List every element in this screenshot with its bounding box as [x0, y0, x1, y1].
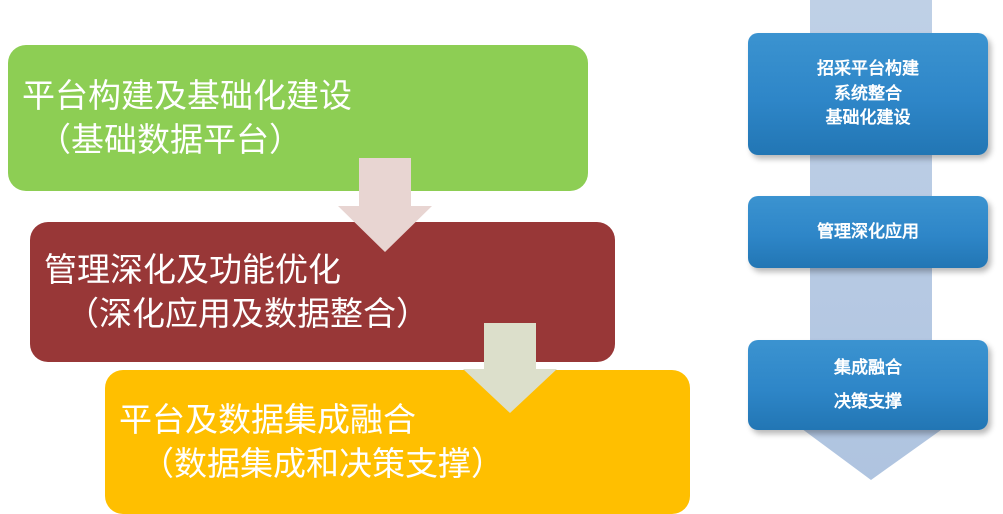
phase-box-platform-construction[interactable]: 平台构建及基础化建设 （基础数据平台） [8, 45, 588, 191]
phase-3-line-2: （数据集成和决策支撑） [119, 442, 690, 486]
connector-2-down-arrow-icon [463, 323, 557, 413]
milestone-2-line-1: 管理深化应用 [817, 220, 919, 245]
phase-3-line-1: 平台及数据集成融合 [119, 398, 690, 442]
milestone-1-line-1: 招采平台构建 [817, 57, 919, 82]
diagram-canvas: 平台构建及基础化建设 （基础数据平台） 管理深化及功能优化 （深化应用及数据整合… [0, 0, 1003, 514]
milestone-3-line-2: 决策支撑 [834, 385, 902, 419]
milestone-3-line-1: 集成融合 [834, 351, 902, 385]
milestone-box-management-application[interactable]: 管理深化应用 [748, 196, 988, 268]
milestone-1-line-3: 基础化建设 [826, 106, 911, 131]
phase-box-data-integration[interactable]: 平台及数据集成融合 （数据集成和决策支撑） [105, 370, 690, 514]
phase-1-line-1: 平台构建及基础化建设 [22, 74, 588, 118]
milestone-1-line-2: 系统整合 [834, 82, 902, 107]
milestone-box-integration-decision[interactable]: 集成融合 决策支撑 [748, 340, 988, 430]
phase-2-line-1: 管理深化及功能优化 [44, 248, 615, 292]
phase-1-line-2: （基础数据平台） [22, 118, 588, 162]
milestone-box-platform-build[interactable]: 招采平台构建 系统整合 基础化建设 [748, 33, 988, 155]
connector-1-down-arrow-icon [338, 158, 432, 252]
